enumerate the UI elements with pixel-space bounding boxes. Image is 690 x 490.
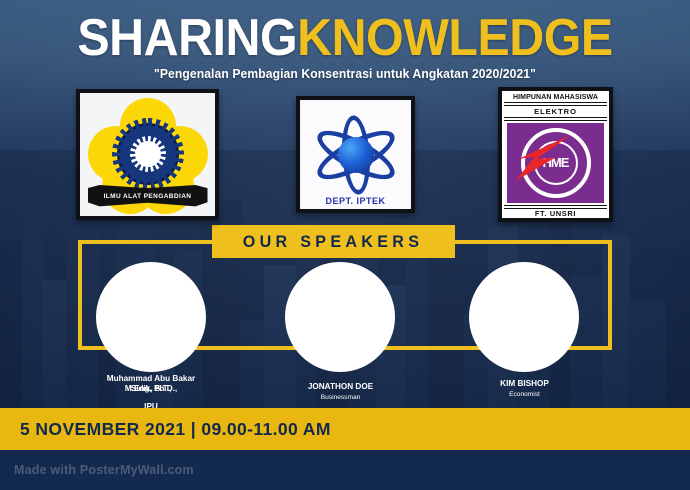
iptek-emblem-icon: DEPT. IPTEK <box>302 101 410 209</box>
hme-emblem-icon: HIMPUNAN MAHASISWA ELEKTRO HME FT. UNSRI <box>502 91 609 218</box>
atom-icon <box>310 118 402 192</box>
speaker-name-line1: Muhammad Abu Bakar <box>76 374 226 384</box>
unsri-ribbon-text: ILMU ALAT PENGABDIAN <box>104 193 192 200</box>
title-word-knowledge: KNOWLEDGE <box>297 9 613 67</box>
speakers-banner: OUR SPEAKERS <box>212 225 455 258</box>
hme-line3: FT. UNSRI <box>535 209 576 218</box>
speaker-name-line1: JONATHON DOE <box>268 382 413 392</box>
poster-canvas: SHARINGKNOWLEDGE "Pengenalan Pembagian K… <box>0 0 690 490</box>
hme-line1: HIMPUNAN MAHASISWA <box>513 94 598 101</box>
speaker-name-block: Muhammad Abu Bakar Sidik, S.T., M.Eng, P… <box>76 374 226 395</box>
footer-bar: Made with PosterMyWall.com <box>0 450 690 490</box>
page-title: SHARINGKNOWLEDGE <box>24 10 666 66</box>
speaker-role: Economist <box>452 390 597 399</box>
logo-dept-iptek: DEPT. IPTEK <box>296 96 415 213</box>
speaker-name-block: KIM BISHOP Economist <box>452 379 597 399</box>
logo-row: ILMU ALAT PENGABDIAN DEPT. IPTEK HIMPUNA… <box>0 86 690 222</box>
date-time-bar: 5 NOVEMBER 2021 | 09.00-11.00 AM <box>0 408 690 450</box>
speaker-role: Businessman <box>268 393 413 402</box>
speaker-name-line1: KIM BISHOP <box>452 379 597 389</box>
logo-universitas-sriwijaya: ILMU ALAT PENGABDIAN <box>76 89 219 220</box>
speakers-banner-label: OUR SPEAKERS <box>243 232 424 252</box>
speaker-names-row: Muhammad Abu Bakar Sidik, S.T., M.Eng, P… <box>0 374 690 412</box>
hme-line2: ELEKTRO <box>534 107 577 116</box>
speaker-avatar <box>469 262 579 372</box>
page-subtitle: "Pengenalan Pembagian Konsentrasi untuk … <box>10 67 679 81</box>
watermark-text: Made with PosterMyWall.com <box>14 463 194 477</box>
date-time-text: 5 NOVEMBER 2021 | 09.00-11.00 AM <box>20 419 331 440</box>
iptek-caption: DEPT. IPTEK <box>302 196 410 206</box>
gear-icon <box>117 123 179 185</box>
speaker-avatar <box>285 262 395 372</box>
logo-himpunan-mahasiswa-elektro: HIMPUNAN MAHASISWA ELEKTRO HME FT. UNSRI <box>498 87 613 222</box>
unsri-emblem-icon: ILMU ALAT PENGABDIAN <box>84 96 212 214</box>
speaker-avatar <box>96 262 206 372</box>
title-word-sharing: SHARING <box>77 9 297 67</box>
speaker-name-line2-overlap: M.Eng, Ph.D., <box>76 384 226 394</box>
speaker-photo-row <box>0 262 690 372</box>
speaker-name-block: JONATHON DOE Businessman <box>268 382 413 402</box>
header-block: SHARINGKNOWLEDGE "Pengenalan Pembagian K… <box>0 10 690 81</box>
